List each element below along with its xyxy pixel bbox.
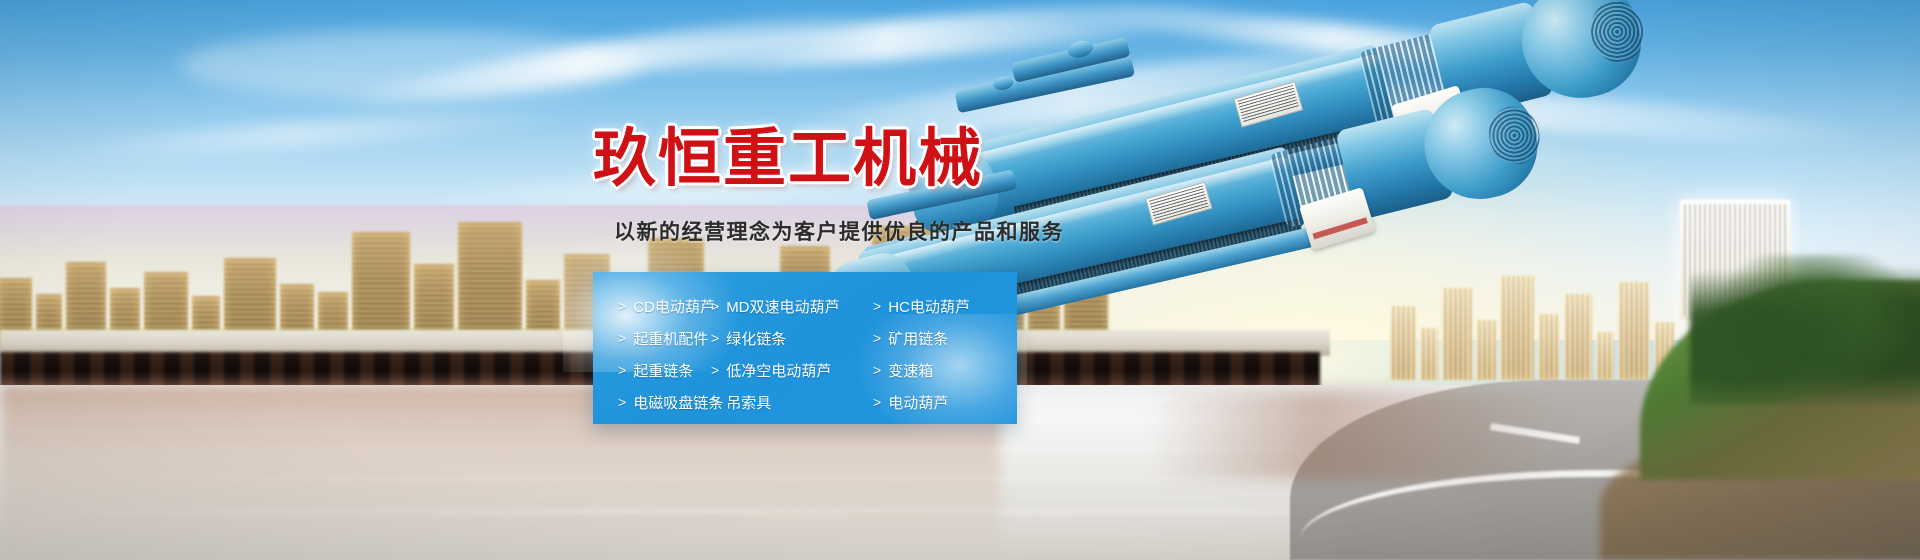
product-link-label: HC电动葫芦 [888, 296, 970, 317]
product-links-row: > CD电动葫芦 > MD双速电动葫芦 > HC电动葫芦 [593, 290, 1017, 322]
product-link-crane-parts[interactable]: > 起重机配件 [593, 328, 711, 349]
product-link-label: 起重链条 [633, 360, 693, 381]
chevron-right-icon: > [618, 394, 626, 410]
product-link-cd-hoist[interactable]: > CD电动葫芦 [593, 296, 711, 317]
page-title: 玖恒重工机械 [593, 128, 983, 191]
product-link-label: 矿用链条 [888, 328, 948, 349]
chevron-right-icon: > [873, 394, 881, 410]
product-link-md-dual-speed-hoist[interactable]: > MD双速电动葫芦 [711, 296, 873, 317]
product-link-low-headroom-hoist[interactable]: > 低净空电动葫芦 [711, 360, 873, 381]
product-link-hc-hoist[interactable]: > HC电动葫芦 [873, 296, 970, 317]
product-link-electric-hoist[interactable]: > 电动葫芦 [873, 392, 948, 413]
product-link-label: 吊索具 [726, 392, 771, 413]
chevron-right-icon: > [873, 362, 881, 378]
hillside-trees [1690, 255, 1920, 405]
product-links-row: > 起重链条 > 低净空电动葫芦 > 变速箱 [593, 354, 1017, 386]
product-link-label: 变速箱 [888, 360, 933, 381]
product-links-panel: > CD电动葫芦 > MD双速电动葫芦 > HC电动葫芦 > 起重机配件 [593, 272, 1017, 424]
chevron-right-icon: > [711, 362, 719, 378]
chevron-right-icon: > [873, 298, 881, 314]
chevron-right-icon: > [618, 362, 626, 378]
chevron-right-icon: > [711, 298, 719, 314]
product-link-greening-chain[interactable]: > 绿化链条 [711, 328, 873, 349]
product-link-label: 低净空电动葫芦 [726, 360, 831, 381]
product-link-label: CD电动葫芦 [633, 296, 715, 317]
product-link-label: 起重机配件 [633, 328, 708, 349]
chevron-right-icon: > [711, 394, 719, 410]
promotional-banner: 玖恒重工机械 以新的经营理念为客户提供优良的产品和服务 > CD电动葫芦 > M… [0, 0, 1920, 560]
product-links-row: > 电磁吸盘链条 > 吊索具 > 电动葫芦 [593, 386, 1017, 418]
chevron-right-icon: > [873, 330, 881, 346]
product-link-label: 电动葫芦 [888, 392, 948, 413]
product-link-label: 绿化链条 [726, 328, 786, 349]
product-links-grid: > CD电动葫芦 > MD双速电动葫芦 > HC电动葫芦 > 起重机配件 [593, 272, 1017, 424]
product-links-row: > 起重机配件 > 绿化链条 > 矿用链条 [593, 322, 1017, 354]
chevron-right-icon: > [711, 330, 719, 346]
chevron-right-icon: > [618, 330, 626, 346]
product-link-lifting-chain[interactable]: > 起重链条 [593, 360, 711, 381]
chevron-right-icon: > [618, 298, 626, 314]
product-link-slings[interactable]: > 吊索具 [711, 392, 873, 413]
product-link-magnetic-chuck-chain[interactable]: > 电磁吸盘链条 [593, 392, 711, 413]
product-link-label: 电磁吸盘链条 [633, 392, 723, 413]
product-link-gearbox[interactable]: > 变速箱 [873, 360, 933, 381]
product-link-label: MD双速电动葫芦 [726, 296, 839, 317]
product-link-mining-chain[interactable]: > 矿用链条 [873, 328, 948, 349]
page-subtitle: 以新的经营理念为客户提供优良的产品和服务 [614, 222, 1064, 243]
